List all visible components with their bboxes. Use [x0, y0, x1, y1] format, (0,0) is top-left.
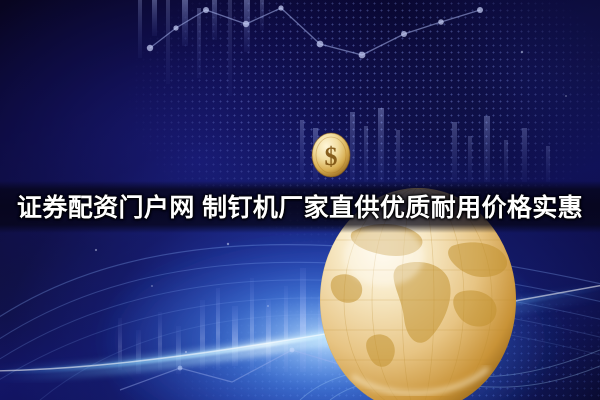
dollar-sign-icon: $: [325, 142, 338, 171]
page-title: 证券配资门户网 制钉机厂家直供优质耐用价格实惠: [0, 186, 600, 230]
promo-banner: $ 证券配资门户网 制钉机厂家直供优质耐用价格实惠: [0, 0, 600, 400]
gold-coin: $: [312, 133, 350, 177]
